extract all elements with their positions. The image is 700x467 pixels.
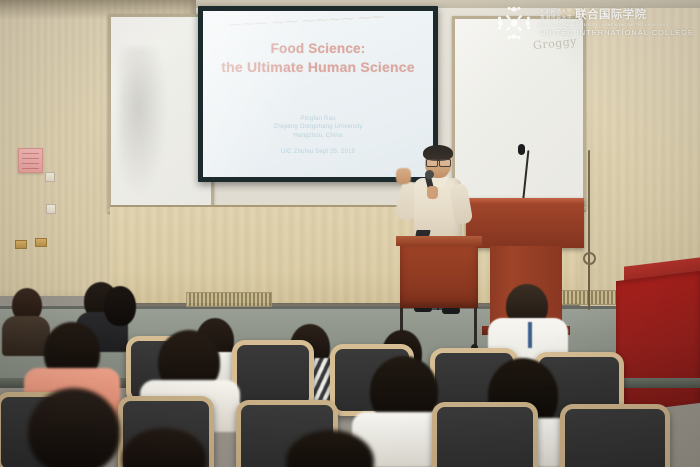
slide-surface: ⁓⁓⁓ ⁓⁓ ⁓⁓⁓⁓ ⁓⁓ Food Science: the Ultimat… <box>203 11 433 177</box>
hanging-cable <box>588 150 590 310</box>
wall-switch[interactable] <box>46 204 56 214</box>
desk-leg <box>474 308 477 346</box>
uic-emblem-icon <box>495 4 533 42</box>
wall-switch[interactable] <box>45 172 55 182</box>
wall-socket-brass[interactable] <box>35 238 47 247</box>
uic-logo-text: 北京师范大学 香港浸会大学 联合国际学院 BEIJING NORMAL UNIV… <box>540 9 694 37</box>
slide-title-line2: the Ultimate Human Science <box>203 58 433 77</box>
side-desk-top <box>396 236 482 246</box>
uic-logo-chinese: 北京师范大学 香港浸会大学 联合国际学院 <box>540 9 694 21</box>
slide-title-line1: Food Science: <box>271 41 366 56</box>
slide-affiliation: Zhejiang Gongshang University <box>203 123 433 131</box>
floor-vent-grille <box>186 292 272 307</box>
speaker-shoe <box>442 307 460 314</box>
podium-top <box>466 198 584 248</box>
slide-city: Hangzhou, China <box>203 132 433 140</box>
projection-screen: ⁓⁓⁓ ⁓⁓ ⁓⁓⁓⁓ ⁓⁓ Food Science: the Ultimat… <box>198 6 438 182</box>
audience-head <box>28 388 120 467</box>
slide-title: Food Science: the Ultimate Human Science <box>203 39 433 77</box>
red-carpet-ramp <box>616 271 700 413</box>
lecture-hall-photo: Groggy ⁓⁓⁓ ⁓⁓ ⁓⁓⁓⁓ ⁓⁓ Food Science: the … <box>0 0 700 467</box>
audience-body <box>2 316 50 356</box>
speaker-mic-hand <box>427 186 438 199</box>
audience-head <box>104 286 136 326</box>
slide-subtitle: Pingfan Rao Zhejiang Gongshang Universit… <box>203 115 433 140</box>
slide-presenter: Pingfan Rao <box>203 115 433 123</box>
speaker-glasses <box>426 159 451 165</box>
side-desk-front <box>400 246 478 308</box>
auditorium-seat[interactable] <box>560 404 670 467</box>
audience-lanyard <box>528 322 532 348</box>
slide-ghost-ink: ⁓⁓⁓ ⁓⁓ ⁓⁓⁓⁓ ⁓⁓ <box>229 11 420 40</box>
uic-logo-english-name: UNITED INTERNATIONAL COLLEGE <box>540 29 694 37</box>
uic-parent-hkbu: 香港浸会大学 <box>540 15 572 21</box>
wall-socket-brass[interactable] <box>15 240 27 249</box>
cable-loop <box>583 252 596 265</box>
speaker-left-fist <box>396 168 411 184</box>
uic-logo: 北京师范大学 香港浸会大学 联合国际学院 BEIJING NORMAL UNIV… <box>495 4 694 42</box>
whiteboard-smudge <box>119 47 167 197</box>
gooseneck-mic-head <box>518 144 525 155</box>
auditorium-seat[interactable] <box>432 402 538 467</box>
pink-notice-poster <box>18 148 43 173</box>
uic-logo-chinese-name: 联合国际学院 <box>575 9 646 21</box>
microphone-capsule <box>425 170 434 179</box>
whiteboard-right: Groggy <box>452 16 586 210</box>
slide-event-date: UIC Zhuhai Sept 25, 2019 <box>203 149 433 155</box>
uic-logo-chinese-parents: 北京师范大学 香港浸会大学 <box>540 9 572 21</box>
